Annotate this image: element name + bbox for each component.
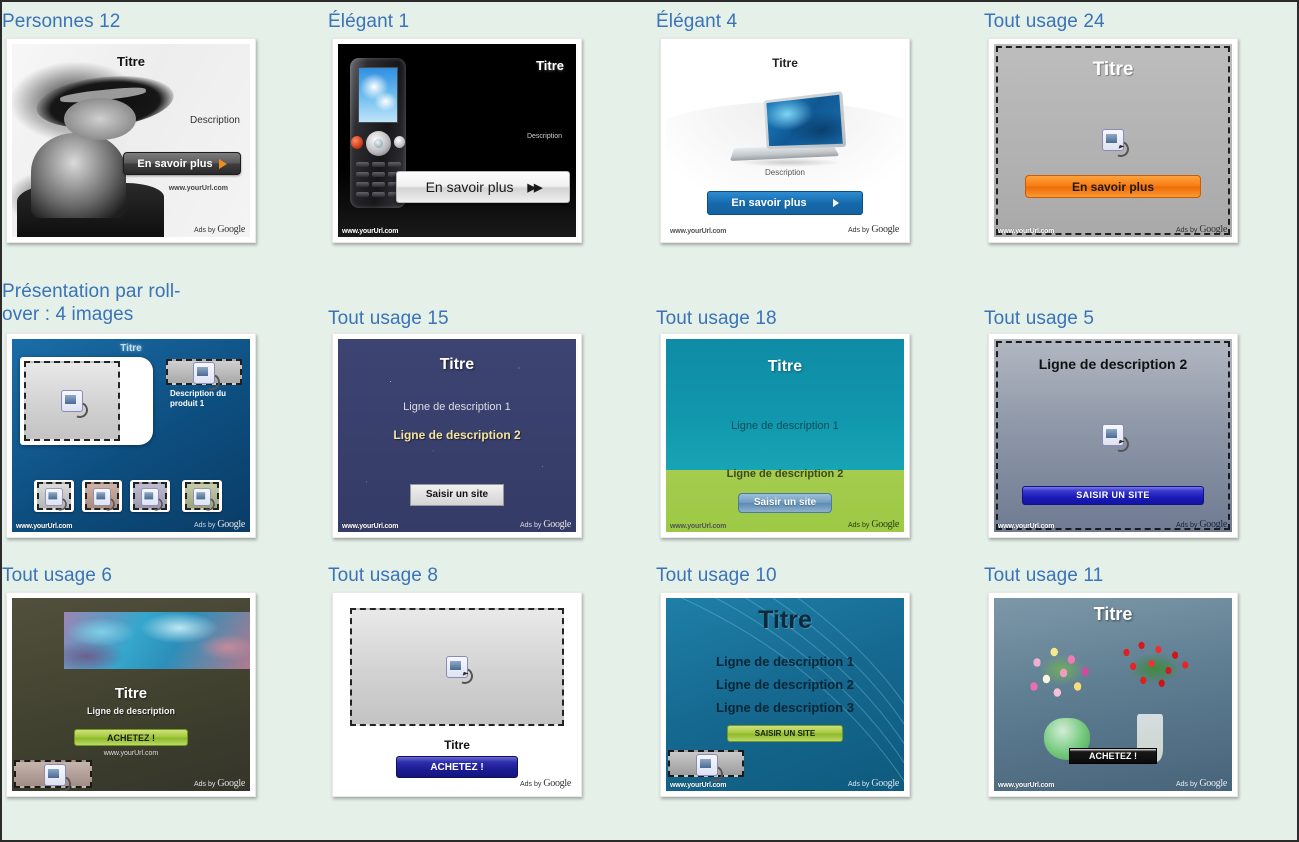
ad-desc-line-3: Ligne de description 3 [666, 700, 904, 715]
image-placeholder-icon-wrap [696, 754, 718, 776]
thumb-image [133, 482, 167, 510]
template-label: Tout usage 5 [984, 307, 1274, 330]
ad-canvas: Titre Ligne de description 1 Ligne de de… [666, 598, 904, 791]
laptop-screen [766, 95, 842, 146]
template-card-tout-usage-5[interactable]: Tout usage 5 Ligne de description 2 SAIS… [984, 280, 1274, 536]
ad-canvas: Titre [12, 339, 250, 532]
ads-by-text: Ads by [194, 522, 217, 529]
template-card-tout-usage-24[interactable]: Tout usage 24 Titre En savoir plus www.y… [984, 10, 1274, 260]
double-arrow-icon: ▶▶ [528, 181, 541, 194]
product-thumb-placeholder[interactable] [166, 359, 242, 385]
template-label: Tout usage 18 [656, 307, 956, 330]
ads-by-google: Ads by Google [1176, 778, 1227, 789]
photo-arm [31, 133, 126, 218]
ad-desc-line-2: Ligne de description 2 [666, 468, 904, 480]
main-image-sheet [20, 357, 153, 445]
ads-by-google: Ads by Google [194, 224, 245, 235]
ad-preview[interactable]: Titre Description En savoir plus www.you… [660, 38, 910, 243]
cta-label: Saisir un site [754, 497, 816, 508]
thumb-image [37, 482, 71, 510]
cta-button[interactable]: ACHETEZ ! [396, 756, 518, 778]
cta-label: ACHETEZ ! [1089, 751, 1137, 761]
ads-by-text: Ads by [520, 781, 543, 788]
template-card-tout-usage-18[interactable]: Tout usage 18 Titre Ligne de description… [656, 280, 956, 536]
ad-title: Titre [12, 54, 250, 69]
play-arrow-icon [833, 199, 839, 207]
logo-placeholder[interactable] [668, 750, 744, 777]
ad-preview[interactable]: Titre Ligne de description 1 Ligne de de… [660, 333, 910, 538]
cta-button[interactable]: SAISIR UN SITE [727, 725, 843, 742]
ad-title: Titre [12, 685, 250, 702]
ad-url: www.yourUrl.com [998, 782, 1054, 789]
insert-image-icon [193, 488, 211, 506]
ad-url: www.yourUrl.com [670, 782, 726, 789]
cta-button[interactable]: En savoir plus [123, 152, 241, 175]
ad-canvas: Titre Description En savoir plus www.you… [666, 44, 904, 237]
thumbnail-row [20, 480, 234, 514]
insert-image-icon [193, 362, 215, 384]
cta-button[interactable]: ACHETEZ ! [1069, 748, 1157, 764]
ad-url: www.yourUrl.com [998, 228, 1054, 235]
tulip-bouquet-image [1023, 640, 1101, 715]
insert-image-icon [44, 764, 66, 786]
image-placeholder-icon-wrap [61, 390, 83, 412]
cta-label: ACHETEZ ! [430, 762, 483, 773]
ad-description: Description [190, 115, 240, 126]
google-wordmark: Google [543, 519, 571, 530]
ad-preview[interactable]: Ligne de description 2 SAISIR UN SITE ww… [988, 333, 1238, 538]
ad-title: Titre [338, 738, 576, 752]
cta-label: ACHETEZ ! [107, 733, 155, 743]
ad-url: www.yourUrl.com [12, 750, 250, 757]
template-row-3: Tout usage 6 Titre Ligne de description … [2, 564, 1297, 814]
ads-by-text: Ads by [1176, 522, 1199, 529]
thumb-image [185, 482, 219, 510]
ad-preview[interactable]: Titre En savoir plus www.yourUrl.com Ads… [988, 38, 1238, 243]
template-label: Élégant 1 [328, 10, 628, 33]
image-placeholder-icon-wrap [44, 764, 66, 786]
ads-by-google: Ads by Google [848, 778, 899, 789]
ad-description: Description [527, 133, 562, 140]
ad-url: www.yourUrl.com [169, 185, 228, 192]
ad-url: www.yourUrl.com [998, 523, 1054, 530]
ad-preview[interactable]: Titre Ligne de description 1 Ligne de de… [660, 592, 910, 797]
cta-button[interactable]: En savoir plus ▶▶ [396, 171, 570, 203]
ad-canvas: Titre ACHETEZ ! www.yourUrl.com Ads by G… [994, 598, 1232, 791]
rose-bouquet-image [1113, 637, 1197, 707]
image-placeholder-icon-wrap [1102, 424, 1124, 446]
ad-canvas: Titre Ligne de description 1 Ligne de de… [338, 339, 576, 532]
cta-button[interactable]: Saisir un site [738, 493, 832, 513]
laptop-image [733, 96, 851, 168]
ad-canvas: Ligne de description 2 SAISIR UN SITE ww… [994, 339, 1232, 532]
ad-canvas: Titre Ligne de description ACHETEZ ! www… [12, 598, 250, 791]
thumbnail-1[interactable] [34, 480, 74, 512]
image-placeholder-icon-wrap [193, 362, 215, 384]
banner-image [64, 612, 250, 670]
ad-desc-line-1: Ligne de description [12, 706, 250, 716]
template-label: Tout usage 10 [656, 564, 956, 587]
ad-canvas: Titre Description En savoir plus www.you… [12, 44, 250, 237]
ad-url: www.yourUrl.com [342, 523, 398, 530]
laptop-lid [764, 91, 847, 149]
google-wordmark: Google [871, 519, 899, 530]
ads-by-google: Ads by Google [194, 778, 245, 789]
google-wordmark: Google [1199, 519, 1227, 530]
ad-preview[interactable]: Titre ACHETEZ ! Ads by Google [332, 592, 582, 797]
ads-by-google: Ads by Google [1176, 519, 1227, 530]
ad-url: www.yourUrl.com [670, 228, 726, 235]
ad-canvas: Titre ACHETEZ ! Ads by Google [338, 598, 576, 791]
image-placeholder-icon-wrap [446, 656, 468, 678]
cta-label: SAISIR UN SITE [755, 729, 815, 738]
ad-desc-line-1: Ligne de description 1 [666, 654, 904, 669]
play-arrow-icon [219, 159, 227, 169]
cta-button[interactable]: ACHETEZ ! [74, 729, 188, 746]
template-row-2: Présentation par roll-over : 4 images Ti… [2, 280, 1297, 536]
ads-by-google: Ads by Google [520, 778, 571, 789]
photo-face [64, 98, 135, 140]
ads-by-text: Ads by [1176, 227, 1199, 234]
insert-image-icon [93, 488, 111, 506]
ad-title: Titre [994, 604, 1232, 625]
ads-by-google: Ads by Google [194, 519, 245, 530]
ad-desc-line-2: Ligne de description 2 [338, 428, 576, 442]
google-wordmark: Google [217, 778, 245, 789]
template-label: Tout usage 15 [328, 307, 628, 330]
cta-label: SAISIR UN SITE [1076, 490, 1150, 500]
ad-url: www.yourUrl.com [16, 523, 72, 530]
ads-by-google: Ads by Google [520, 519, 571, 530]
main-image-placeholder[interactable] [350, 608, 564, 726]
cta-button[interactable]: En savoir plus [707, 191, 863, 215]
ad-title: Titre [536, 58, 564, 73]
thumbnail-3[interactable] [130, 480, 170, 512]
ad-title: Titre [338, 356, 576, 374]
google-wordmark: Google [217, 519, 245, 530]
ad-title: Titre [12, 343, 250, 354]
template-card-tout-usage-15[interactable]: Tout usage 15 Titre Ligne de description… [328, 280, 628, 536]
cta-button[interactable]: Saisir un site [410, 484, 504, 506]
logo-placeholder[interactable] [14, 760, 92, 788]
google-wordmark: Google [871, 778, 899, 789]
google-wordmark: Google [1199, 778, 1227, 789]
ad-preview[interactable]: Titre Ligne de description 1 Ligne de de… [332, 333, 582, 538]
template-card-elegant-4[interactable]: Élégant 4 Titre Description En savoir pl… [656, 10, 956, 260]
template-row-1: Personnes 12 Titre Description En savoir… [2, 10, 1297, 260]
google-wordmark: Google [543, 778, 571, 789]
ad-preview[interactable]: Titre Description En savoir plus www.you… [6, 38, 256, 243]
ad-url: www.yourUrl.com [342, 228, 398, 235]
thumbnail-2[interactable] [82, 480, 122, 512]
cta-label: En savoir plus [137, 158, 212, 170]
template-label: Tout usage 24 [984, 10, 1274, 33]
ad-title: Titre [994, 59, 1232, 81]
template-card-presentation-rollover[interactable]: Présentation par roll-over : 4 images Ti… [2, 280, 302, 536]
template-card-tout-usage-11[interactable]: Tout usage 11 Titre ACHETEZ ! www.yourUr… [984, 564, 1274, 814]
phone-jog-dial [366, 131, 391, 156]
phone-screen [358, 67, 398, 123]
ad-desc-line-1: Ligne de description 1 [666, 420, 904, 432]
insert-image-icon [696, 754, 718, 776]
thumbnail-4[interactable] [182, 480, 222, 512]
insert-image-icon [61, 390, 83, 412]
ads-by-text: Ads by [848, 227, 871, 234]
ads-by-text: Ads by [848, 522, 871, 529]
phone-key-white [394, 136, 405, 148]
template-card-tout-usage-8[interactable]: Tout usage 8 Titre ACHETEZ ! Ads by Goog… [328, 564, 628, 814]
ads-by-text: Ads by [1176, 781, 1199, 788]
thumb-image [85, 482, 119, 510]
ad-canvas: Titre Description En savoir plus ▶▶ www.… [338, 44, 576, 237]
cta-button[interactable]: En savoir plus [1025, 175, 1201, 198]
ad-title: Titre [666, 606, 904, 635]
template-label: Tout usage 6 [2, 564, 302, 587]
template-label: Présentation par roll-over : 4 images [2, 280, 217, 326]
cta-button[interactable]: SAISIR UN SITE [1022, 486, 1204, 505]
ads-by-text: Ads by [194, 227, 217, 234]
template-label: Élégant 4 [656, 10, 956, 33]
google-wordmark: Google [1199, 224, 1227, 235]
insert-image-icon [141, 488, 159, 506]
ads-by-google: Ads by Google [848, 224, 899, 235]
cta-label: En savoir plus [1072, 180, 1154, 194]
template-label: Tout usage 11 [984, 564, 1274, 587]
cta-label: En savoir plus [426, 179, 514, 195]
ad-description: Description du produit 1 [170, 389, 242, 409]
ad-desc-line-2: Ligne de description 2 [994, 356, 1232, 372]
main-image-placeholder[interactable] [24, 361, 120, 441]
ad-desc-line-1: Ligne de description 1 [338, 401, 576, 413]
template-card-tout-usage-6[interactable]: Tout usage 6 Titre Ligne de description … [2, 564, 302, 814]
cta-label: En savoir plus [731, 197, 806, 209]
ads-by-text: Ads by [848, 781, 871, 788]
ads-by-text: Ads by [194, 781, 217, 788]
ad-preview[interactable]: Titre [6, 333, 256, 538]
ads-by-google: Ads by Google [848, 519, 899, 530]
ads-by-google: Ads by Google [1176, 224, 1227, 235]
ad-title: Titre [666, 56, 904, 70]
ad-canvas: Titre En savoir plus www.yourUrl.com Ads… [994, 44, 1232, 237]
template-label: Tout usage 8 [328, 564, 628, 587]
cta-label: Saisir un site [426, 489, 488, 500]
ad-gallery-page: Personnes 12 Titre Description En savoir… [0, 0, 1299, 842]
template-card-elegant-1[interactable]: Élégant 1 [328, 10, 628, 260]
phone-keypad [356, 162, 400, 206]
insert-image-icon [45, 488, 63, 506]
ad-canvas: Titre Ligne de description 1 Ligne de de… [666, 339, 904, 532]
template-card-personnes-12[interactable]: Personnes 12 Titre Description En savoir… [2, 10, 302, 260]
google-wordmark: Google [871, 224, 899, 235]
ad-preview[interactable]: Titre Description En savoir plus ▶▶ www.… [332, 38, 582, 243]
ad-url: www.yourUrl.com [670, 523, 726, 530]
ad-description: Description [666, 168, 904, 177]
ad-title: Titre [666, 358, 904, 376]
google-wordmark: Google [217, 224, 245, 235]
template-label: Personnes 12 [2, 10, 302, 33]
template-grid: Personnes 12 Titre Description En savoir… [2, 2, 1297, 840]
phone-key-red [351, 136, 363, 149]
image-placeholder-icon-wrap [1102, 129, 1124, 151]
ad-preview[interactable]: Titre ACHETEZ ! www.yourUrl.com Ads by G… [988, 592, 1238, 797]
ads-by-text: Ads by [520, 522, 543, 529]
ad-preview[interactable]: Titre Ligne de description ACHETEZ ! www… [6, 592, 256, 797]
template-card-tout-usage-10[interactable]: Tout usage 10 Titre [656, 564, 956, 814]
ad-desc-line-2: Ligne de description 2 [666, 677, 904, 692]
